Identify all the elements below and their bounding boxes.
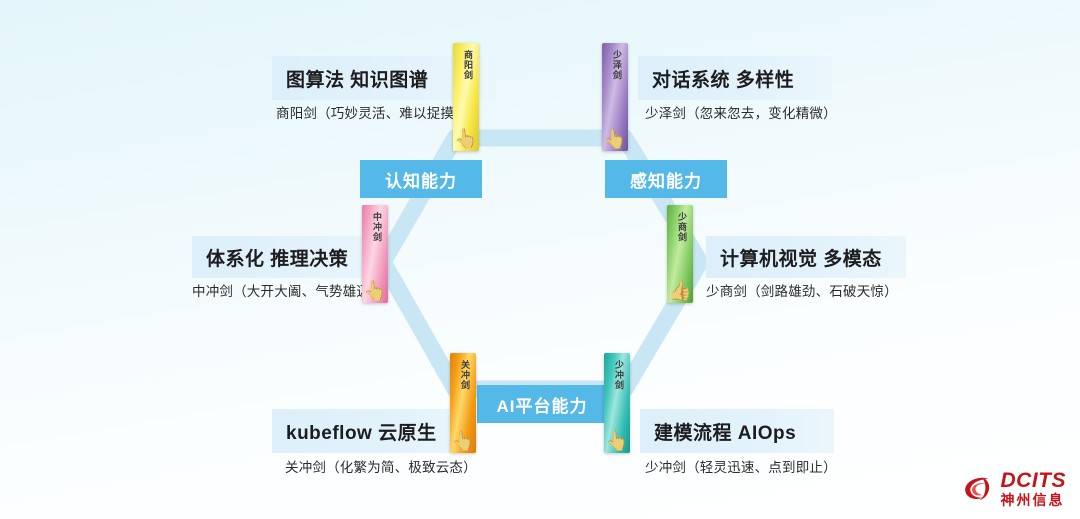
logo-cn-text: 神州信息 (1001, 493, 1067, 507)
pillar-aiops: 少冲剑 👆 (604, 353, 630, 453)
node-subtitle-cloud-native: 关冲剑（化繁为简、极致云态） (285, 456, 477, 476)
pillar-knowledge-graph: 商阳剑 👆 (453, 43, 479, 151)
pointing-hand-icon: 👆 (605, 432, 629, 451)
node-title-reasoning-decision: 体系化 推理决策 (192, 236, 388, 278)
logo-wordmark: DCITS 神州信息 (1001, 470, 1067, 507)
pillar-label-cloud-native: 关冲剑 (457, 360, 469, 390)
diagram-canvas: 图算法 知识图谱 商阳剑（巧妙灵活、难以捉摸） 商阳剑 👆 少泽剑 👆 对话系统… (0, 0, 1080, 519)
thumbs-up-hand-icon: 👍 (668, 282, 692, 301)
dcits-logo: DCITS 神州信息 (961, 470, 1067, 507)
capability-chip-perception[interactable]: 感知能力 (605, 160, 727, 198)
logo-en-text: DCITS (1001, 470, 1067, 491)
node-title-text: kubeflow 云原生 (286, 418, 437, 445)
pointing-hand-icon: 👆 (603, 130, 627, 149)
pillar-label-reasoning-decision: 中冲剑 (369, 212, 381, 242)
node-title-text: 体系化 推理决策 (206, 244, 348, 271)
node-title-cloud-native: kubeflow 云原生 (272, 409, 476, 453)
pillar-label-knowledge-graph: 商阳剑 (460, 50, 472, 80)
node-subtitle-aiops: 少冲剑（轻灵迅速、点到即止） (645, 456, 837, 476)
hexagon-connector (0, 0, 1080, 519)
pillar-label-computer-vision: 少商剑 (674, 212, 686, 242)
node-title-text: 建模流程 AIOps (654, 418, 796, 445)
pointing-hand-icon: 👆 (363, 282, 387, 301)
node-subtitle-reasoning-decision: 中冲剑（大开大阖、气势雄迈） (192, 280, 384, 300)
capability-chip-label: AI平台能力 (497, 392, 588, 417)
capability-chip-cognitive[interactable]: 认知能力 (360, 160, 482, 198)
pointing-hand-icon: 👆 (451, 432, 475, 451)
pillar-label-dialogue-system: 少泽剑 (609, 50, 621, 80)
node-title-text: 计算机视觉 多模态 (720, 244, 882, 271)
pointing-hand-icon: 👆 (454, 130, 478, 149)
node-subtitle-computer-vision: 少商剑（剑路雄劲、石破天惊） (706, 280, 898, 300)
node-title-dialogue-system: 对话系统 多样性 (638, 56, 832, 100)
capability-chip-label: 感知能力 (630, 167, 702, 192)
pillar-label-aiops: 少冲剑 (611, 360, 623, 390)
pillar-dialogue-system: 少泽剑 👆 (602, 43, 628, 151)
node-subtitle-dialogue-system: 少泽剑（忽来忽去，变化精微） (645, 102, 837, 122)
node-subtitle-knowledge-graph: 商阳剑（巧妙灵活、难以捉摸） (276, 102, 468, 122)
node-title-computer-vision: 计算机视觉 多模态 (706, 236, 906, 278)
pillar-computer-vision: 少商剑 👍 (667, 205, 693, 303)
capability-chip-platform[interactable]: AI平台能力 (477, 385, 607, 423)
node-title-text: 图算法 知识图谱 (286, 65, 428, 92)
pillar-reasoning-decision: 中冲剑 👆 (362, 205, 388, 303)
swirl-logo-icon (961, 472, 995, 506)
pillar-cloud-native: 关冲剑 👆 (450, 353, 476, 453)
capability-chip-label: 认知能力 (385, 167, 457, 192)
node-title-aiops: 建模流程 AIOps (640, 409, 834, 453)
node-title-text: 对话系统 多样性 (652, 65, 794, 92)
